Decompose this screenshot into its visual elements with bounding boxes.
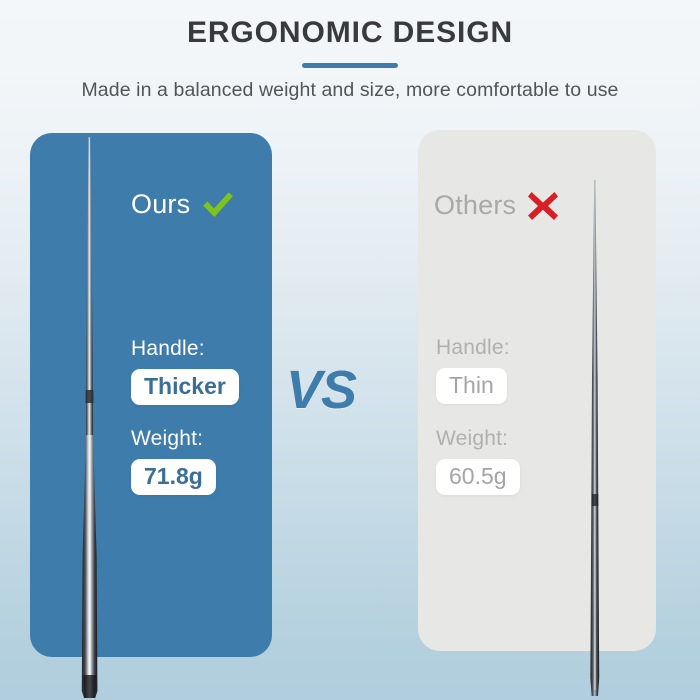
page-subtitle: Made in a balanced weight and size, more… [0, 79, 700, 102]
others-brand-row: Others [434, 190, 559, 221]
ours-handle-value: Thicker [131, 369, 239, 405]
ours-weight-value: 71.8g [131, 459, 216, 495]
others-weight-label: Weight: [436, 427, 520, 451]
others-handle-value: Thin [436, 368, 507, 404]
others-handle-label: Handle: [436, 336, 510, 360]
ours-handle-label: Handle: [131, 337, 239, 361]
ours-brand-row: Ours [131, 189, 235, 220]
ours-weight-label: Weight: [131, 427, 216, 451]
page-title: ERGONOMIC DESIGN [0, 0, 700, 50]
infographic-canvas: ERGONOMIC DESIGN Made in a balanced weig… [0, 0, 700, 700]
ours-weight-spec: Weight: 71.8g [131, 427, 216, 495]
vs-label: VS [286, 359, 356, 421]
others-weight-value: 60.5g [436, 459, 520, 495]
green-check-icon [201, 191, 235, 219]
ours-handle-spec: Handle: Thicker [131, 337, 239, 405]
ours-name: Ours [131, 189, 190, 220]
title-divider [302, 63, 398, 68]
others-weight-spec: Weight: 60.5g [436, 427, 520, 495]
red-cross-icon [527, 191, 559, 221]
others-name: Others [434, 190, 516, 221]
header: ERGONOMIC DESIGN Made in a balanced weig… [0, 0, 700, 102]
others-handle-spec: Handle: Thin [436, 336, 510, 404]
